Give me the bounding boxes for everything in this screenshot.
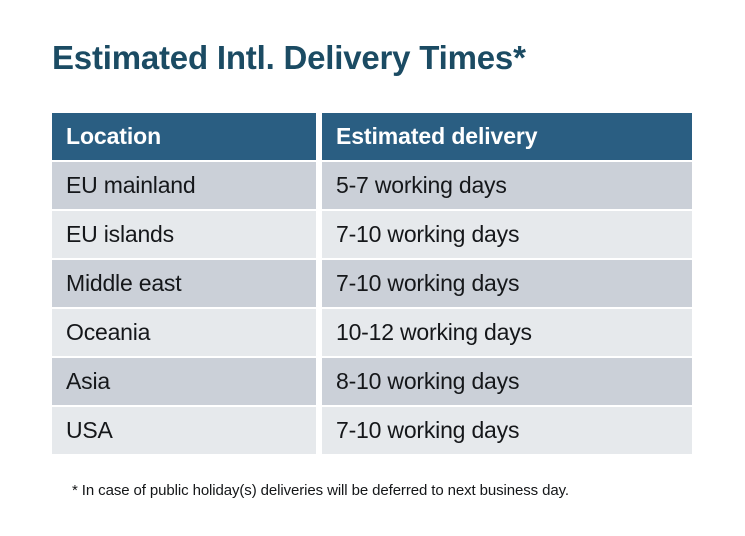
cell-estimated-delivery: 7-10 working days bbox=[322, 407, 692, 454]
table-row: USA 7-10 working days bbox=[52, 407, 692, 454]
delivery-times-table: Location Estimated delivery EU mainland … bbox=[52, 113, 692, 454]
cell-location: EU mainland bbox=[52, 162, 316, 209]
table-row: EU islands 7-10 working days bbox=[52, 211, 692, 258]
table-row: Oceania 10-12 working days bbox=[52, 309, 692, 356]
cell-estimated-delivery: 5-7 working days bbox=[322, 162, 692, 209]
page-title: Estimated Intl. Delivery Times* bbox=[52, 36, 712, 80]
delivery-times-page: Estimated Intl. Delivery Times* Location… bbox=[0, 0, 745, 536]
column-header-location: Location bbox=[52, 113, 316, 160]
cell-estimated-delivery: 7-10 working days bbox=[322, 211, 692, 258]
cell-location: USA bbox=[52, 407, 316, 454]
cell-estimated-delivery: 7-10 working days bbox=[322, 260, 692, 307]
table-row: EU mainland 5-7 working days bbox=[52, 162, 692, 209]
footnote: * In case of public holiday(s) deliverie… bbox=[72, 481, 712, 501]
cell-location: Oceania bbox=[52, 309, 316, 356]
table-header-row: Location Estimated delivery bbox=[52, 113, 692, 160]
cell-location: Asia bbox=[52, 358, 316, 405]
table-row: Asia 8-10 working days bbox=[52, 358, 692, 405]
table-row: Middle east 7-10 working days bbox=[52, 260, 692, 307]
cell-estimated-delivery: 10-12 working days bbox=[322, 309, 692, 356]
cell-estimated-delivery: 8-10 working days bbox=[322, 358, 692, 405]
cell-location: EU islands bbox=[52, 211, 316, 258]
column-header-estimated-delivery: Estimated delivery bbox=[322, 113, 692, 160]
cell-location: Middle east bbox=[52, 260, 316, 307]
